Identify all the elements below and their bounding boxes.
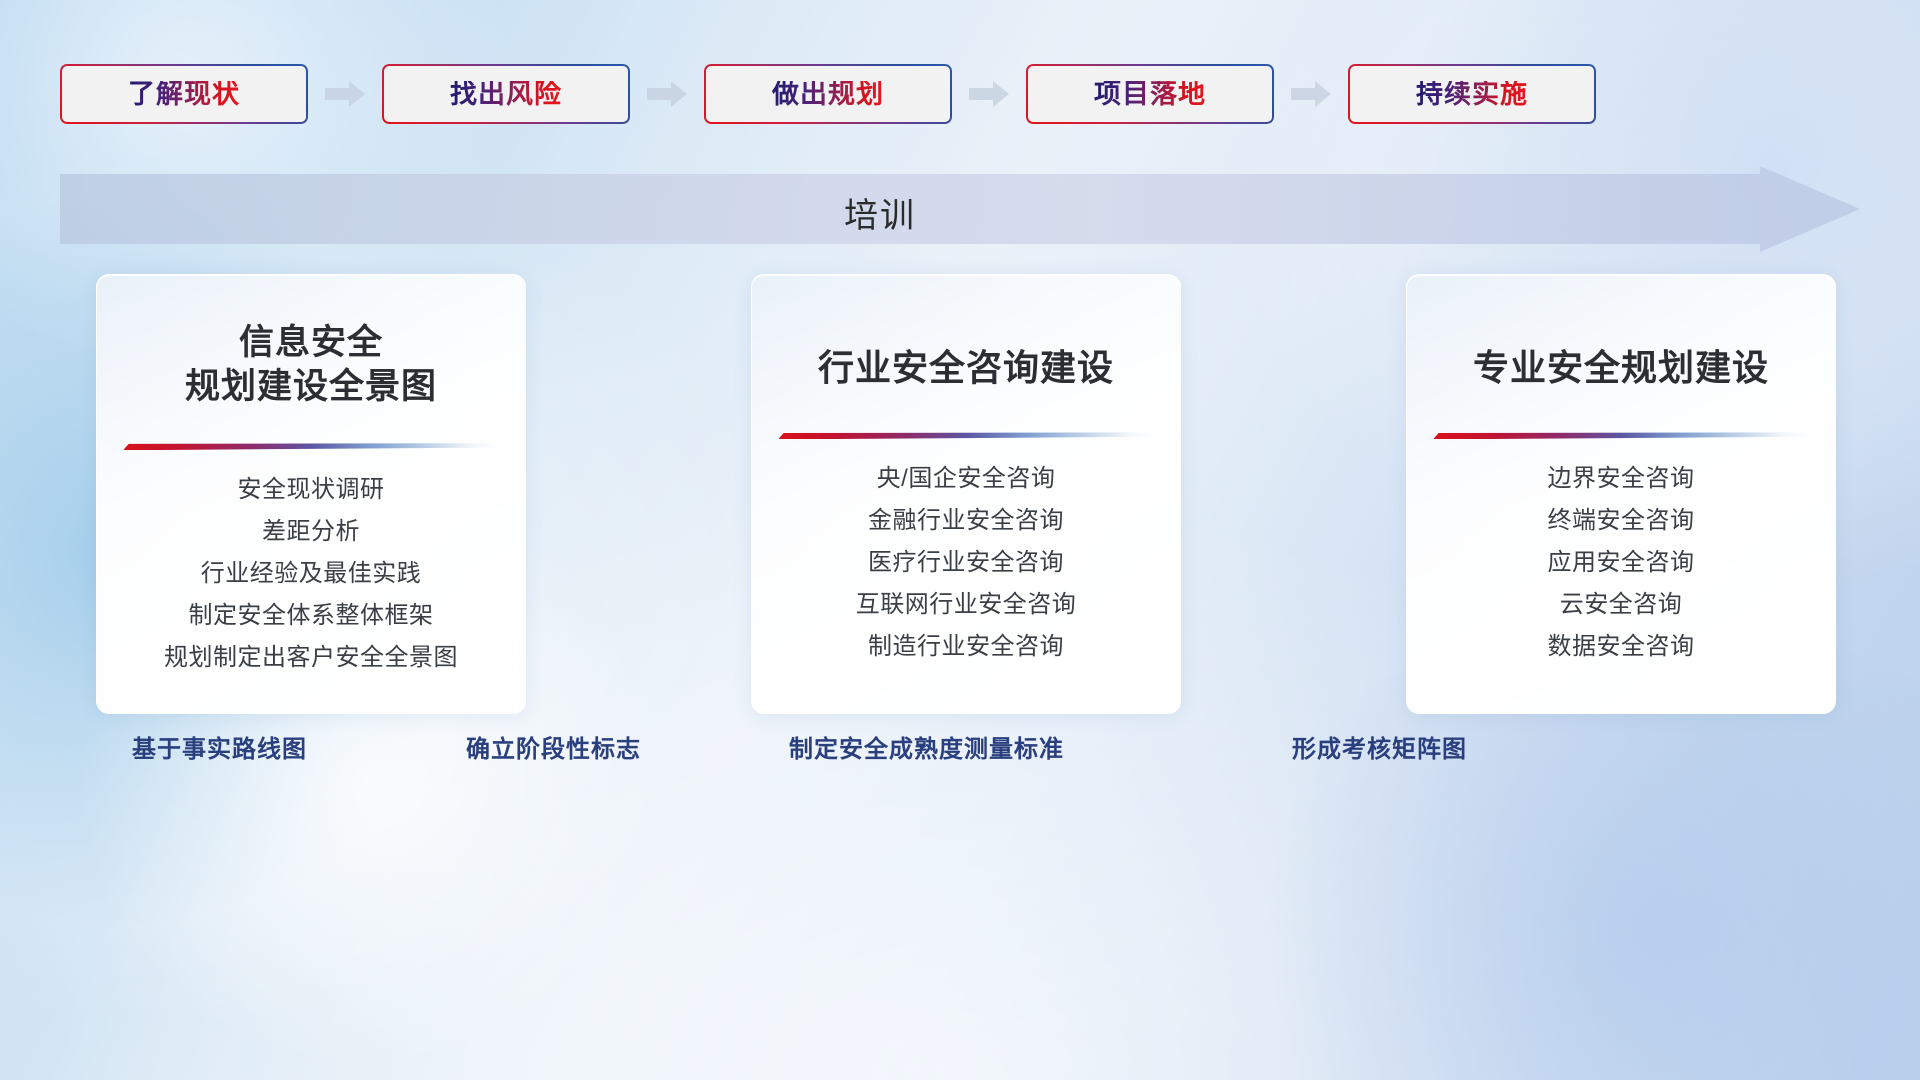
step-box-5[interactable]: 持续实施 <box>1348 64 1596 124</box>
step-label-4: 项目落地 <box>1094 81 1206 108</box>
caption-2: 确立阶段性标志 <box>466 738 641 762</box>
banner-label: 培训 <box>60 188 1860 237</box>
step-box-1[interactable]: 了解现状 <box>60 64 308 124</box>
card-list: 央/国企安全咨询 金融行业安全咨询 医疗行业安全咨询 互联网行业安全咨询 制造行… <box>778 467 1154 659</box>
step-label-1: 了解现状 <box>128 81 240 108</box>
card-industry-security-consulting[interactable]: 行业安全咨询建设 央/国企安全咨询 金融行业安全咨询 医疗行业安全咨询 互联网行… <box>751 274 1181 714</box>
list-item: 金融行业安全咨询 <box>778 509 1154 533</box>
card-row: 信息安全 规划建设全景图 安全现状调研 差距分析 行业经验及最佳实践 制定安全体… <box>96 274 1836 714</box>
step-label-5: 持续实施 <box>1416 81 1528 108</box>
list-item: 央/国企安全咨询 <box>778 467 1154 491</box>
list-item: 边界安全咨询 <box>1433 467 1809 491</box>
arrow-right-icon <box>647 81 687 107</box>
card-divider <box>123 443 499 450</box>
card-list: 安全现状调研 差距分析 行业经验及最佳实践 制定安全体系整体框架 规划制定出客户… <box>123 478 499 670</box>
card-professional-security-planning[interactable]: 专业安全规划建设 边界安全咨询 终端安全咨询 应用安全咨询 云安全咨询 数据安全… <box>1406 274 1836 714</box>
list-item: 安全现状调研 <box>123 478 499 502</box>
list-item: 数据安全咨询 <box>1433 635 1809 659</box>
process-step-flow: 了解现状 找出风险 做出规划 项目落地 持续实施 <box>60 63 1860 125</box>
step-box-3[interactable]: 做出规划 <box>704 64 952 124</box>
caption-1: 基于事实路线图 <box>132 738 307 762</box>
list-item: 应用安全咨询 <box>1433 551 1809 575</box>
step-box-2[interactable]: 找出风险 <box>382 64 630 124</box>
step-label-3: 做出规划 <box>772 81 884 108</box>
caption-4: 形成考核矩阵图 <box>1292 738 1467 762</box>
step-label-2: 找出风险 <box>450 81 562 108</box>
list-item: 互联网行业安全咨询 <box>778 593 1154 617</box>
training-banner: 培训 <box>60 166 1860 252</box>
card-list: 边界安全咨询 终端安全咨询 应用安全咨询 云安全咨询 数据安全咨询 <box>1433 467 1809 659</box>
caption-3: 制定安全成熟度测量标准 <box>789 738 1064 762</box>
slide-canvas: 了解现状 找出风险 做出规划 项目落地 持续实施 <box>0 0 1920 1080</box>
list-item: 制定安全体系整体框架 <box>123 604 499 628</box>
card-title: 信息安全 规划建设全景图 <box>123 321 499 409</box>
card-info-security-blueprint[interactable]: 信息安全 规划建设全景图 安全现状调研 差距分析 行业经验及最佳实践 制定安全体… <box>96 274 526 714</box>
list-item: 差距分析 <box>123 520 499 544</box>
caption-row: 基于事实路线图 确立阶段性标志 制定安全成熟度测量标准 形成考核矩阵图 <box>0 738 1920 778</box>
list-item: 云安全咨询 <box>1433 593 1809 617</box>
list-item: 医疗行业安全咨询 <box>778 551 1154 575</box>
card-divider <box>1433 432 1809 439</box>
list-item: 制造行业安全咨询 <box>778 635 1154 659</box>
card-title: 行业安全咨询建设 <box>778 345 1154 390</box>
arrow-right-icon <box>1291 81 1331 107</box>
list-item: 规划制定出客户安全全景图 <box>123 646 499 670</box>
arrow-right-icon <box>325 81 365 107</box>
list-item: 行业经验及最佳实践 <box>123 562 499 586</box>
step-box-4[interactable]: 项目落地 <box>1026 64 1274 124</box>
list-item: 终端安全咨询 <box>1433 509 1809 533</box>
arrow-right-icon <box>969 81 1009 107</box>
card-title: 专业安全规划建设 <box>1433 345 1809 390</box>
card-divider <box>778 432 1154 439</box>
